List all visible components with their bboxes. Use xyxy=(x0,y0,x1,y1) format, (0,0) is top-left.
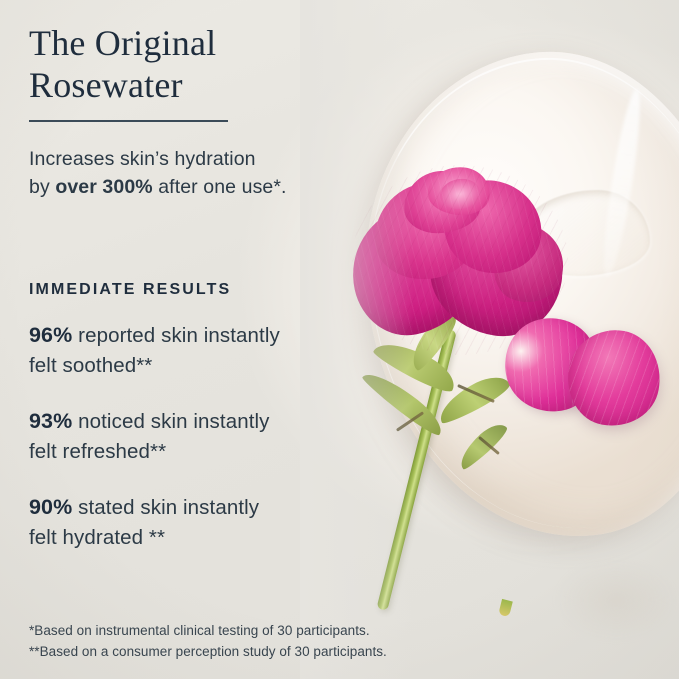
footnotes: *Based on instrumental clinical testing … xyxy=(29,620,387,663)
hydration-claim-tail: after one use*. xyxy=(153,176,287,198)
product-claims-graphic: The Original Rosewater Increases skin’s … xyxy=(0,0,679,679)
stat-item: 96% reported skin instantly felt soothed… xyxy=(29,320,280,381)
stat-item: 93% noticed skin instantly felt refreshe… xyxy=(29,406,270,467)
page-title: The Original Rosewater xyxy=(29,22,216,106)
hydration-claim-emphasis: over 300% xyxy=(55,176,152,198)
stat-value: 90% xyxy=(29,495,72,519)
stat-item: 90% stated skin instantly felt hydrated … xyxy=(29,492,259,553)
section-heading: IMMEDIATE RESULTS xyxy=(29,281,231,299)
stat-value: 93% xyxy=(29,409,72,433)
title-divider xyxy=(29,120,228,122)
hydration-claim: Increases skin’s hydration by over 300% … xyxy=(29,146,287,201)
stat-value: 96% xyxy=(29,323,72,347)
text-overlay: The Original Rosewater Increases skin’s … xyxy=(0,0,679,679)
